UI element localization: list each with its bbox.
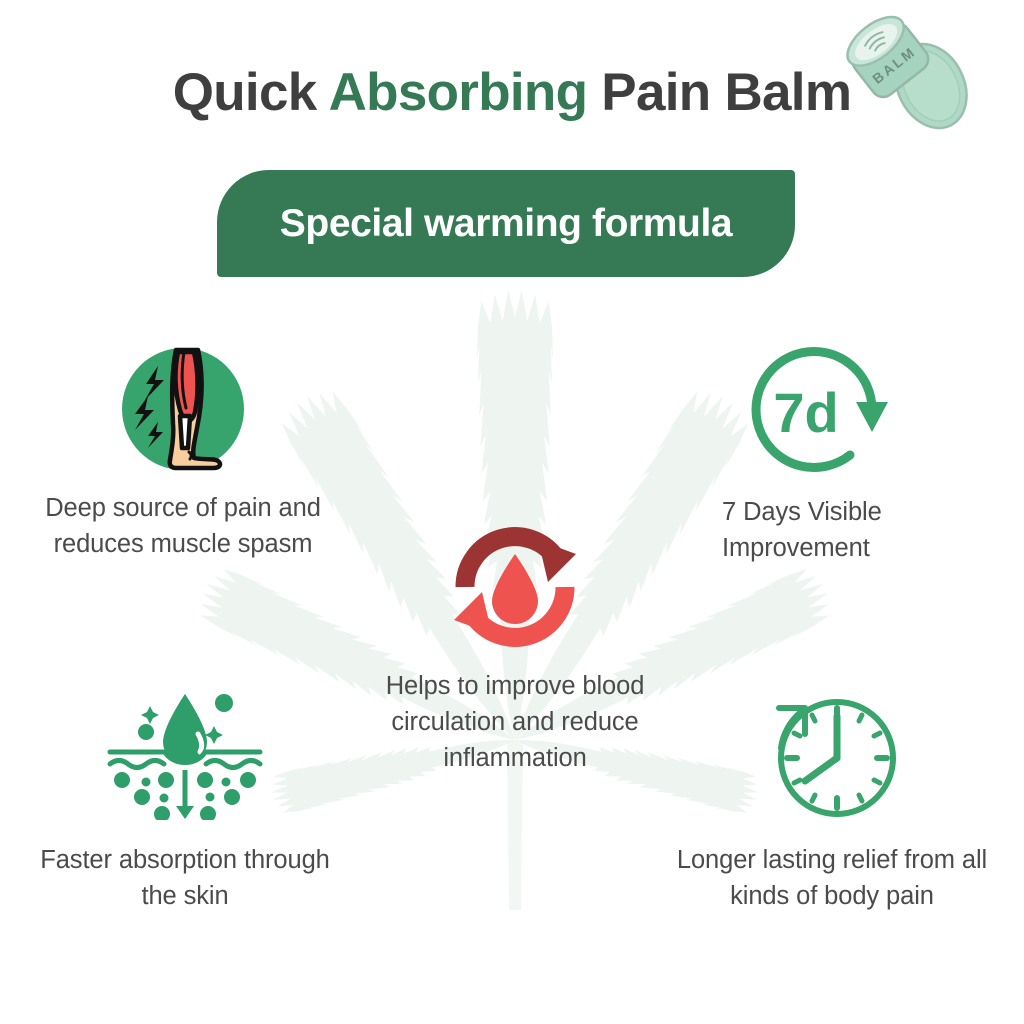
blood-circulation-icon [452,524,578,650]
feature-caption: Faster absorption through the skin [22,842,348,914]
feature-blood-circulation: Helps to improve blood circulation and r… [332,524,698,776]
special-warming-formula-banner: Special warming formula [217,170,795,277]
feature-caption: 7 Days Visible Improvement [722,494,1012,566]
title-part-2: Pain Balm [587,63,851,122]
feature-seven-days-improvement: 7d 7 Days Visible Improvement [722,344,1012,566]
feature-caption: Helps to improve blood circulation and r… [332,668,698,776]
seven-day-label: 7d [773,381,838,444]
pain-balm-infographic: Quick Absorbing Pain Balm BALM Special w… [0,0,1024,1024]
banner-label: Special warming formula [280,202,732,246]
leg-pain-icon [118,344,248,474]
balm-jar-icon: BALM [845,2,975,134]
feature-caption: Longer lasting relief from all kinds of … [662,842,1002,914]
feature-longer-lasting-relief: Longer lasting relief from all kinds of … [662,686,1002,914]
feature-caption: Deep source of pain and reduces muscle s… [18,490,348,562]
feature-deep-source-of-pain: Deep source of pain and reduces muscle s… [18,344,348,562]
title-accent-word: Absorbing [329,63,588,122]
seven-day-cycle-icon: 7d [744,344,894,476]
title-part-1: Quick [173,63,329,122]
clock-icon [761,686,903,822]
skin-absorption-icon [102,676,268,820]
feature-faster-absorption: Faster absorption through the skin [22,676,348,914]
